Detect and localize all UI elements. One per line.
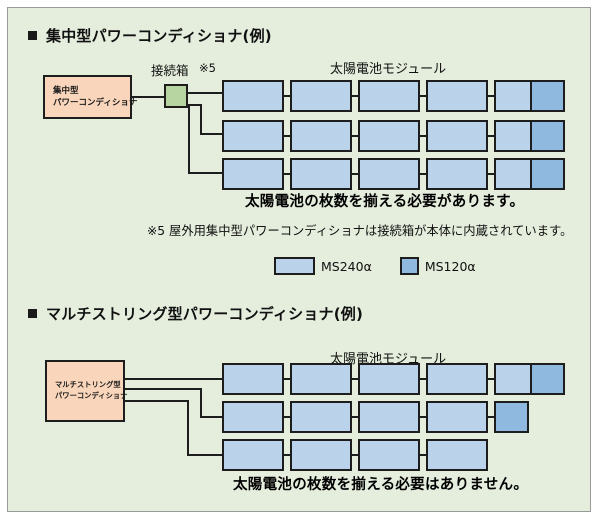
conditioner-line-1: マルチストリング型 [55,380,123,391]
module-link [352,95,358,97]
wire-row2-multistring [200,416,222,418]
solar-module [358,401,420,433]
junction-box-label: 接続箱 [151,60,189,79]
solar-module-narrow [530,363,565,395]
module-link [284,135,290,137]
footnote-centralized: ※5 屋外用集中型パワーコンディショナは接続箱が本体に内蔵されています。 [147,221,572,239]
bullet-square-icon [28,309,37,318]
section-heading-label: 集中型パワーコンディショナ(例) [46,25,272,46]
solar-module [290,363,352,395]
module-link [284,416,290,418]
solar-module [290,439,352,471]
solar-module [222,439,284,471]
junction-box [164,84,188,108]
module-link [488,416,494,418]
section-heading-label: マルチストリング型パワーコンディショナ(例) [46,303,363,324]
module-link [488,378,494,380]
module-link [420,416,426,418]
legend-swatch-ms240a [274,257,315,275]
module-link [352,454,358,456]
legend-label-ms240a: MS240α [321,259,372,274]
legend-item-ms240a: MS240α [274,257,372,275]
solar-module [222,158,284,190]
solar-module [426,120,488,152]
solar-module [426,80,488,112]
wire-row3-centralized [188,172,222,174]
module-link [284,454,290,456]
solar-module-narrow [530,158,565,190]
wire-row2-vertical-multistring [200,388,202,418]
module-link [488,95,494,97]
junction-box-note-mark: ※5 [199,61,216,75]
wire-row3-multistring [187,454,222,456]
bullet-square-icon [28,31,37,40]
solar-module-narrow [530,120,565,152]
module-label-centralized: 太陽電池モジュール [330,58,446,77]
module-link [420,454,426,456]
legend: MS240α MS120α [274,257,476,275]
conditioner-line-1: 集中型 [53,85,130,97]
module-link [284,378,290,380]
solar-module [426,439,488,471]
solar-module [290,401,352,433]
solar-module [290,80,352,112]
module-link [420,135,426,137]
module-link [352,378,358,380]
solar-module [222,363,284,395]
wire-row3-vertical-multistring [187,400,189,456]
wire-conditioner-to-junction [132,96,164,98]
centralized-power-conditioner-box: 集中型 パワーコンディショナ [43,75,132,119]
module-link [352,416,358,418]
conditioner-line-2: パワーコンディショナ [55,391,123,402]
solar-module [358,120,420,152]
solar-module [426,363,488,395]
module-link [488,173,494,175]
module-link [284,173,290,175]
solar-module-narrow [530,80,565,112]
diagram-root: 集中型パワーコンディショナ(例) 集中型 パワーコンディショナ 接続箱 ※5 太… [0,0,600,521]
legend-item-ms120a: MS120α [400,257,476,275]
wire-row1-centralized [188,92,222,94]
section-heading-centralized: 集中型パワーコンディショナ(例) [28,25,272,46]
module-link [420,95,426,97]
solar-module [290,158,352,190]
solar-module-narrow [494,401,529,433]
conditioner-line-2: パワーコンディショナ [53,97,130,109]
statement-centralized: 太陽電池の枚数を揃える必要があります。 [245,190,524,211]
solar-module [222,120,284,152]
solar-module [222,80,284,112]
wire-row1-multistring [125,378,222,380]
wire-row2-vertical-centralized [200,104,202,135]
solar-module [358,158,420,190]
solar-module [358,80,420,112]
solar-module [290,120,352,152]
solar-module [358,363,420,395]
legend-swatch-ms120a [400,257,419,275]
multistring-power-conditioner-box: マルチストリング型 パワーコンディショナ [45,360,125,422]
section-heading-multistring: マルチストリング型パワーコンディショナ(例) [28,303,363,324]
module-link [352,135,358,137]
solar-module [358,439,420,471]
module-link [420,173,426,175]
solar-module [426,158,488,190]
statement-multistring: 太陽電池の枚数を揃える必要はありません。 [233,473,528,494]
module-link [352,173,358,175]
solar-module [426,401,488,433]
wire-row3-vertical-centralized [188,104,190,174]
legend-label-ms120a: MS120α [425,259,476,274]
wire-row3-horizontal-multistring [125,400,189,402]
wire-row2-centralized [200,133,222,135]
module-link [420,378,426,380]
solar-module [222,401,284,433]
module-link [284,95,290,97]
wire-row2-horizontal-multistring [125,388,202,390]
module-link [488,135,494,137]
